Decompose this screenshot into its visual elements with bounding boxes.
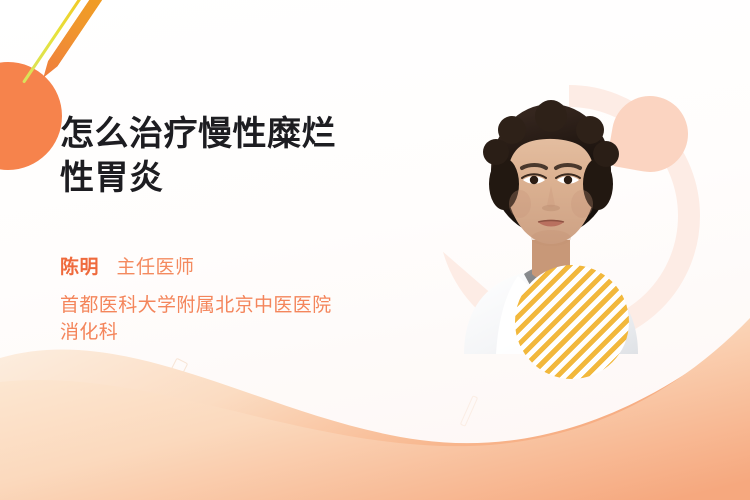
outlined-diagonal-stroke-decoration [147,358,189,423]
orange-circle-decoration [0,62,62,170]
doctor-video-cover-card: 怎么治疗慢性糜烂 性胃炎 陈明 主任医师 首都医科大学附属北京中医医院 消化科 [0,0,750,500]
doctor-affiliation: 首都医科大学附属北京中医医院 消化科 [60,293,420,347]
orange-diagonal-stroke-decoration [39,0,117,80]
doctor-identity-line: 陈明 主任医师 [60,258,420,277]
yellow-diagonal-stroke-decoration [22,0,85,84]
page-title: 怎么治疗慢性糜烂 性胃炎 [60,112,420,200]
doctor-name: 陈明 [60,257,99,278]
doctor-rank: 主任医师 [116,257,194,278]
text-block: 怎么治疗慢性糜烂 性胃炎 陈明 主任医师 首都医科大学附属北京中医医院 消化科 [60,112,420,347]
outlined-diagonal-stroke-decoration-small [460,395,478,427]
doctor-portrait [446,92,656,354]
